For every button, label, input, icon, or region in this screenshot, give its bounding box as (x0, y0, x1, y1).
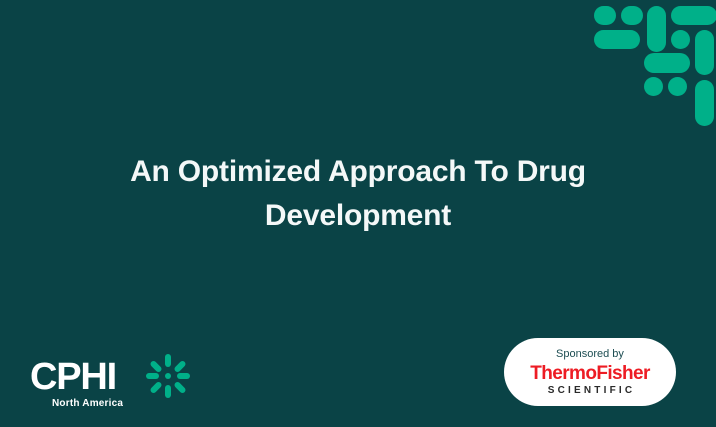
deco-pill-8 (644, 77, 663, 96)
cphi-wordmark: CPHI (30, 357, 116, 397)
sunburst-ray-6 (146, 373, 159, 379)
thermofisher-wordmark: ThermoFisher (530, 364, 650, 384)
sunburst-ray-1 (173, 360, 186, 373)
deco-pill-4 (594, 30, 640, 49)
sponsor-badge: Sponsored by ThermoFisher SCIENTIFIC (504, 338, 676, 406)
pill-grid-graphic (588, 0, 716, 124)
sunburst-ray-7 (149, 360, 162, 373)
deco-pill-7 (644, 53, 690, 72)
sunburst-ray-2 (177, 373, 190, 379)
deco-pill-6 (695, 30, 714, 76)
deco-pill-3 (671, 6, 716, 25)
page-title: An Optimized Approach To Drug Developmen… (0, 150, 716, 238)
thermofisher-tagline: SCIENTIFIC (545, 385, 636, 397)
cphi-subtitle: North America (52, 398, 123, 409)
thermofisher-brand-part-one: Thermo (530, 363, 596, 384)
sunburst-center-dot (165, 373, 171, 379)
sunburst-ray-0 (165, 354, 171, 367)
sunburst-icon (146, 354, 190, 398)
deco-pill-1 (621, 6, 643, 25)
deco-pill-10 (695, 80, 714, 126)
sunburst-ray-3 (173, 381, 186, 394)
sponsored-by-label: Sponsored by (556, 348, 624, 361)
sunburst-ray-4 (165, 385, 171, 398)
presentation-slide: An Optimized Approach To Drug Developmen… (0, 0, 716, 427)
deco-pill-9 (668, 77, 687, 96)
cphi-logo: CPHI North America (30, 347, 210, 413)
deco-pill-2 (647, 6, 666, 52)
thermofisher-brand-part-two: Fisher (596, 363, 649, 384)
deco-pill-0 (594, 6, 616, 25)
sunburst-ray-5 (149, 381, 162, 394)
deco-pill-5 (671, 30, 690, 49)
